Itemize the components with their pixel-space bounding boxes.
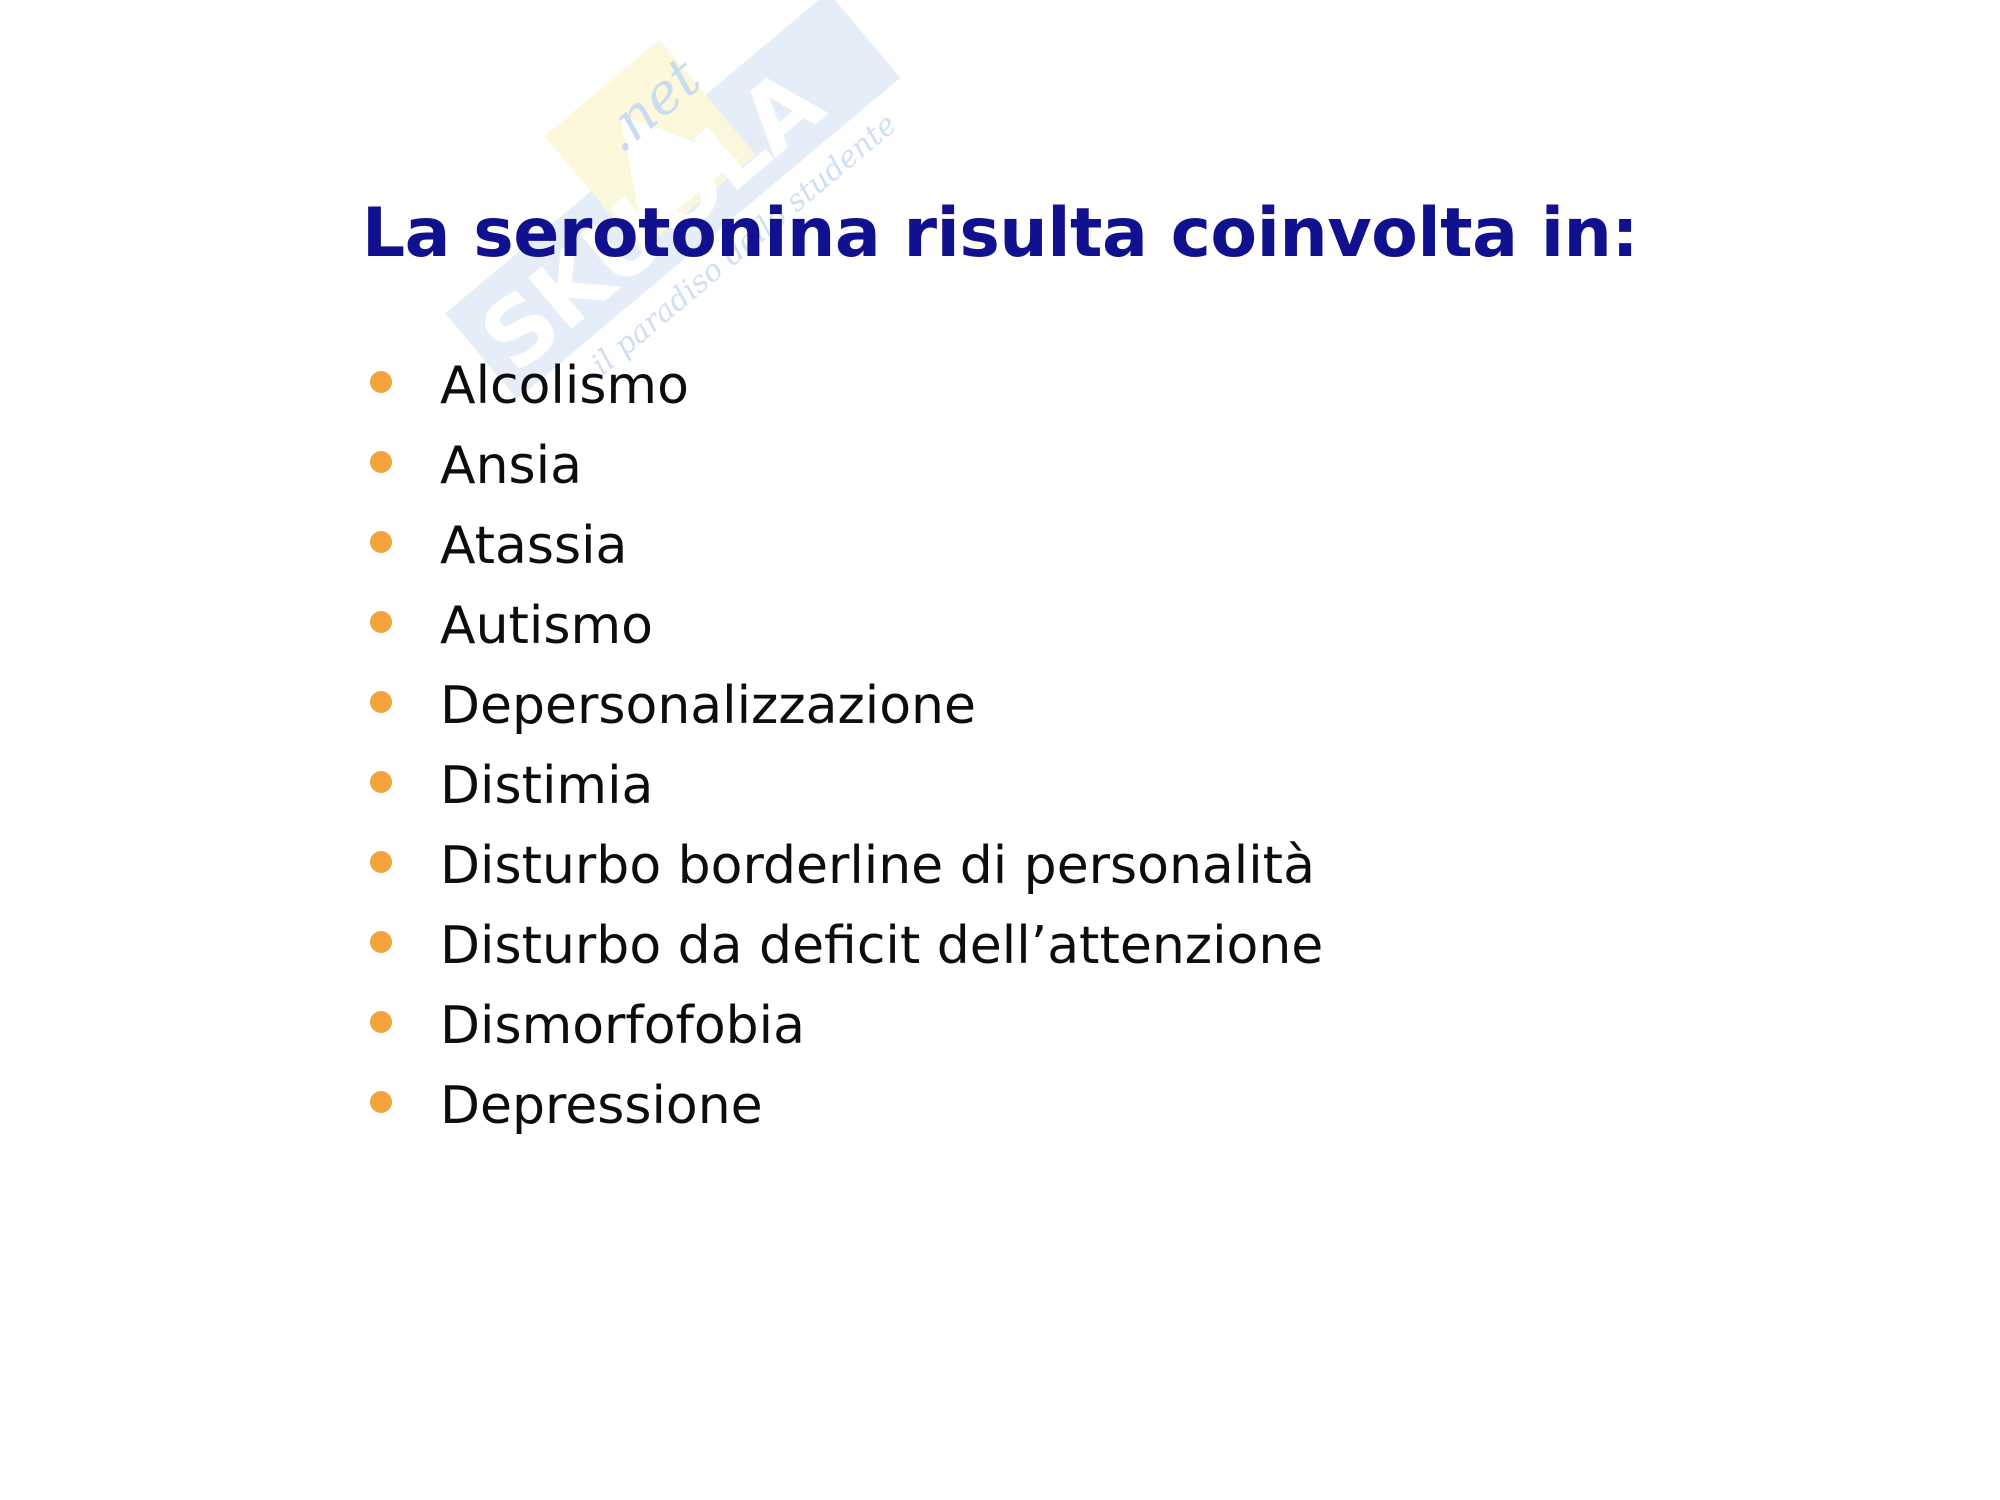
list-item-label: Depersonalizzazione xyxy=(440,680,976,732)
list-item: Disturbo da deficit dell’attenzione xyxy=(370,920,1620,1000)
list-item-label: Autismo xyxy=(440,600,653,652)
bullet-dot-icon xyxy=(370,771,392,793)
list-item: Autismo xyxy=(370,600,1620,680)
bullet-list: Alcolismo Ansia Atassia Autismo Deperson… xyxy=(370,360,1620,1160)
list-item: Alcolismo xyxy=(370,360,1620,440)
list-item-label: Alcolismo xyxy=(440,360,689,412)
page-title: La serotonina risulta coinvolta in: xyxy=(0,198,2000,269)
slide-content: La serotonina risulta coinvolta in: Alco… xyxy=(0,0,2000,1500)
list-item: Distimia xyxy=(370,760,1620,840)
bullet-dot-icon xyxy=(370,691,392,713)
list-item: Depersonalizzazione xyxy=(370,680,1620,760)
bullet-dot-icon xyxy=(370,371,392,393)
list-item-label: Ansia xyxy=(440,440,582,492)
list-item-label: Distimia xyxy=(440,760,653,812)
list-item-label: Dismorfofobia xyxy=(440,1000,805,1052)
bullet-dot-icon xyxy=(370,1091,392,1113)
list-item: Dismorfofobia xyxy=(370,1000,1620,1080)
list-item: Disturbo borderline di personalità xyxy=(370,840,1620,920)
list-item-label: Disturbo borderline di personalità xyxy=(440,840,1315,892)
list-item-label: Atassia xyxy=(440,520,627,572)
bullet-dot-icon xyxy=(370,611,392,633)
list-item-label: Depressione xyxy=(440,1080,763,1132)
bullet-dot-icon xyxy=(370,851,392,873)
list-item-label: Disturbo da deficit dell’attenzione xyxy=(440,920,1323,972)
list-item: Ansia xyxy=(370,440,1620,520)
list-item: Atassia xyxy=(370,520,1620,600)
presentation-slide: SKUOLA .net il paradiso dello studente L… xyxy=(0,0,2000,1500)
bullet-dot-icon xyxy=(370,931,392,953)
bullet-dot-icon xyxy=(370,531,392,553)
bullet-dot-icon xyxy=(370,1011,392,1033)
list-item: Depressione xyxy=(370,1080,1620,1160)
bullet-dot-icon xyxy=(370,451,392,473)
